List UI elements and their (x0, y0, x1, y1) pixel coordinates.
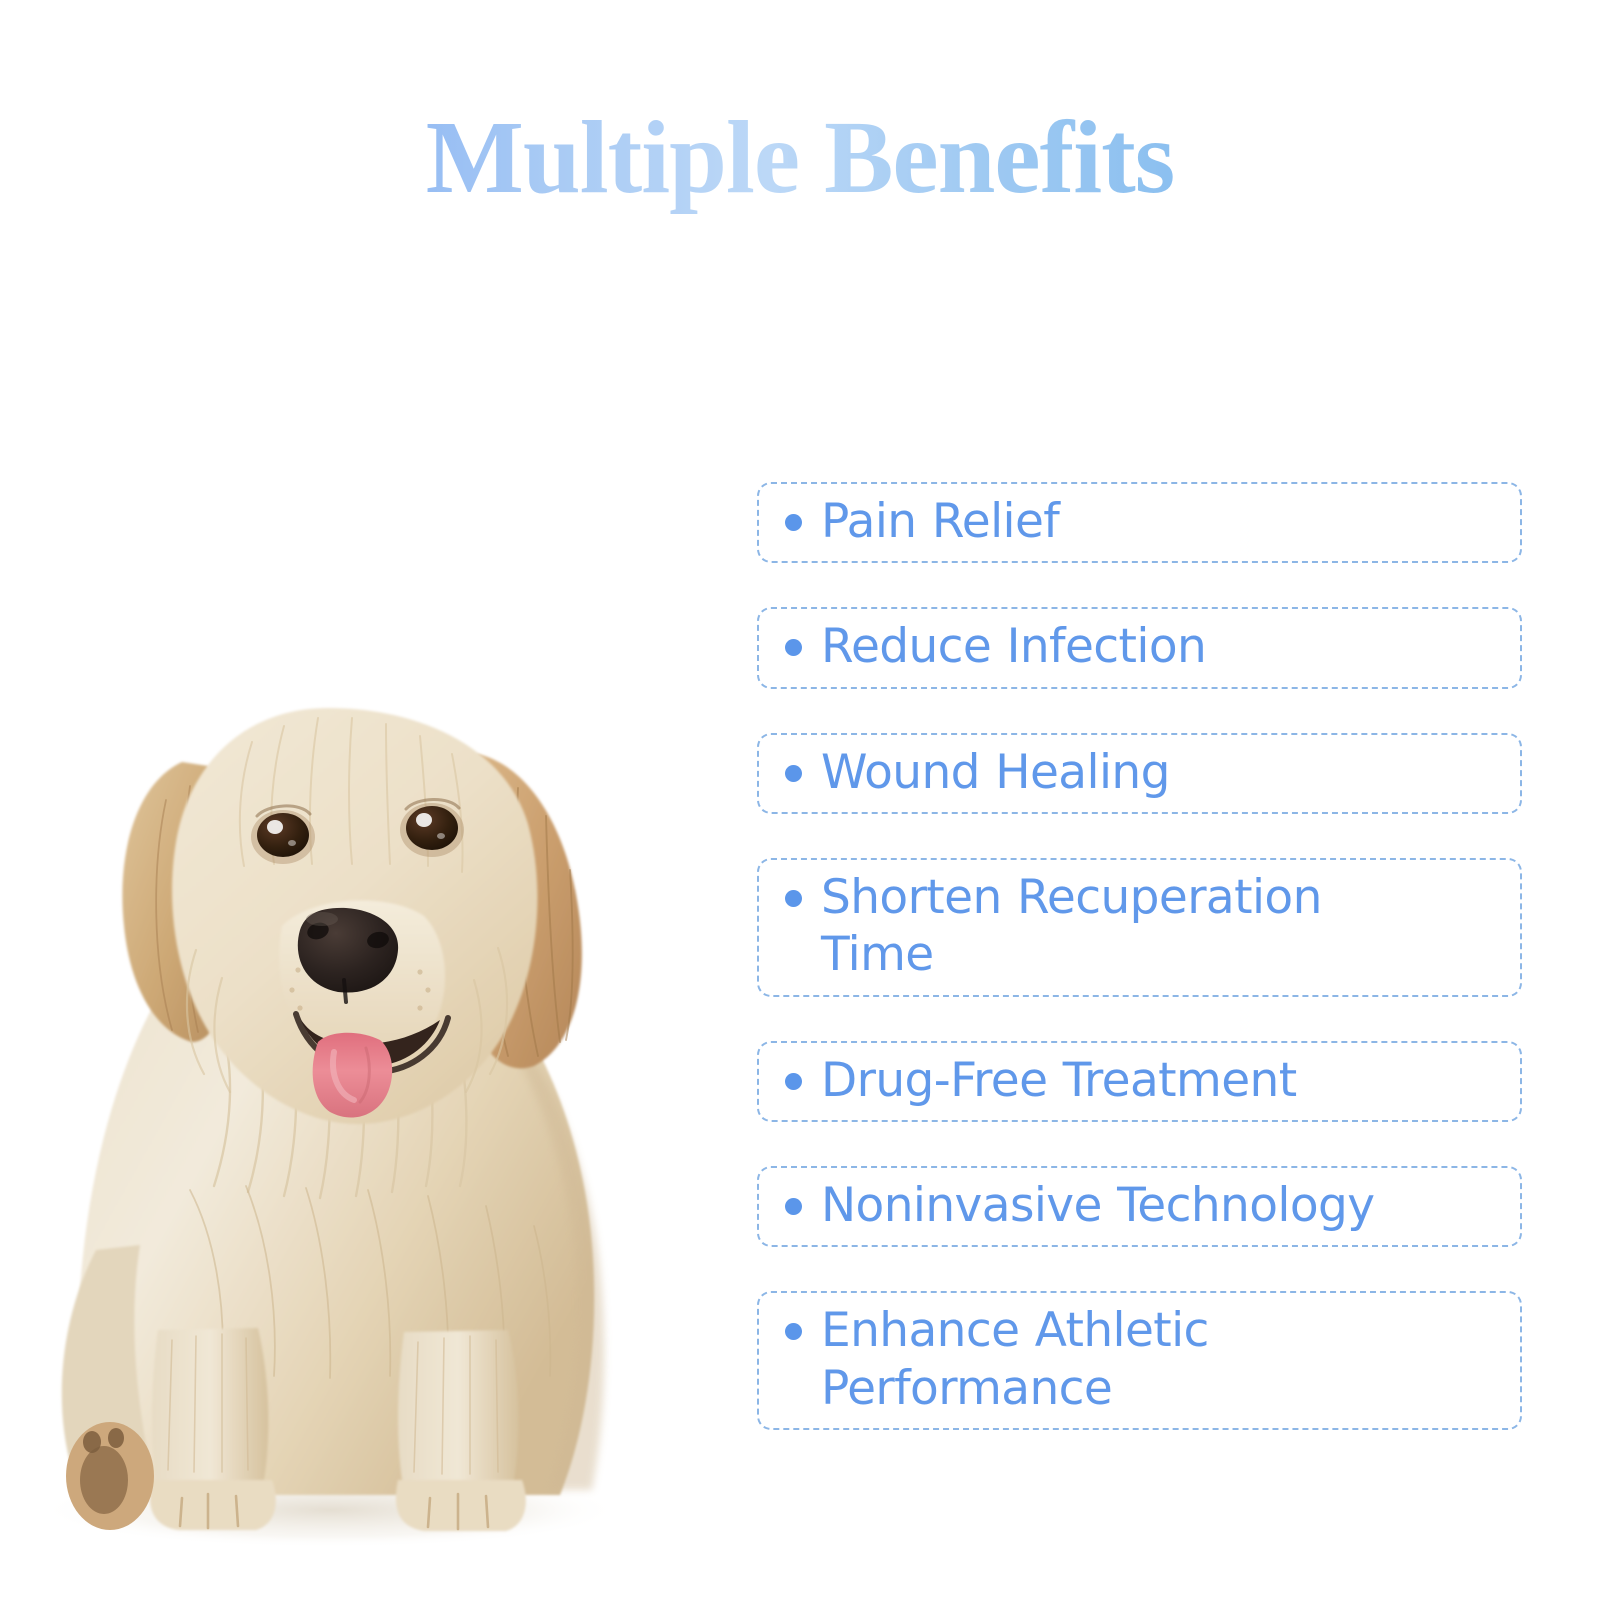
benefits-list: Pain Relief Reduce Infection Wound Heali… (757, 482, 1522, 1430)
benefit-item-reduce-infection[interactable]: Reduce Infection (757, 607, 1522, 688)
bullet-icon (785, 765, 802, 782)
benefit-item-shorten-recuperation-time[interactable]: Shorten Recuperation Time (757, 858, 1522, 997)
benefit-label: Pain Relief (821, 493, 1502, 550)
bullet-icon (785, 1198, 802, 1215)
benefit-label: Enhance Athletic Performance (821, 1302, 1435, 1417)
benefit-label: Wound Healing (821, 744, 1502, 801)
benefit-item-pain-relief[interactable]: Pain Relief (757, 482, 1522, 563)
puppy-photo (0, 330, 700, 1560)
benefit-label: Reduce Infection (821, 618, 1502, 675)
benefit-item-wound-healing[interactable]: Wound Healing (757, 733, 1522, 814)
bullet-icon (785, 1323, 802, 1340)
benefit-item-noninvasive-technology[interactable]: Noninvasive Technology (757, 1166, 1522, 1247)
benefit-label: Noninvasive Technology (821, 1177, 1502, 1234)
puppy-illustration (0, 330, 700, 1560)
bullet-icon (785, 1073, 802, 1090)
bullet-icon (785, 890, 802, 907)
benefit-item-enhance-athletic-performance[interactable]: Enhance Athletic Performance (757, 1291, 1522, 1430)
page-title: Multiple Benefits (0, 102, 1600, 214)
bullet-icon (785, 514, 802, 531)
benefit-item-drug-free-treatment[interactable]: Drug-Free Treatment (757, 1041, 1522, 1122)
bullet-icon (785, 639, 802, 656)
benefit-label: Drug-Free Treatment (821, 1052, 1502, 1109)
benefit-label: Shorten Recuperation Time (821, 869, 1435, 984)
